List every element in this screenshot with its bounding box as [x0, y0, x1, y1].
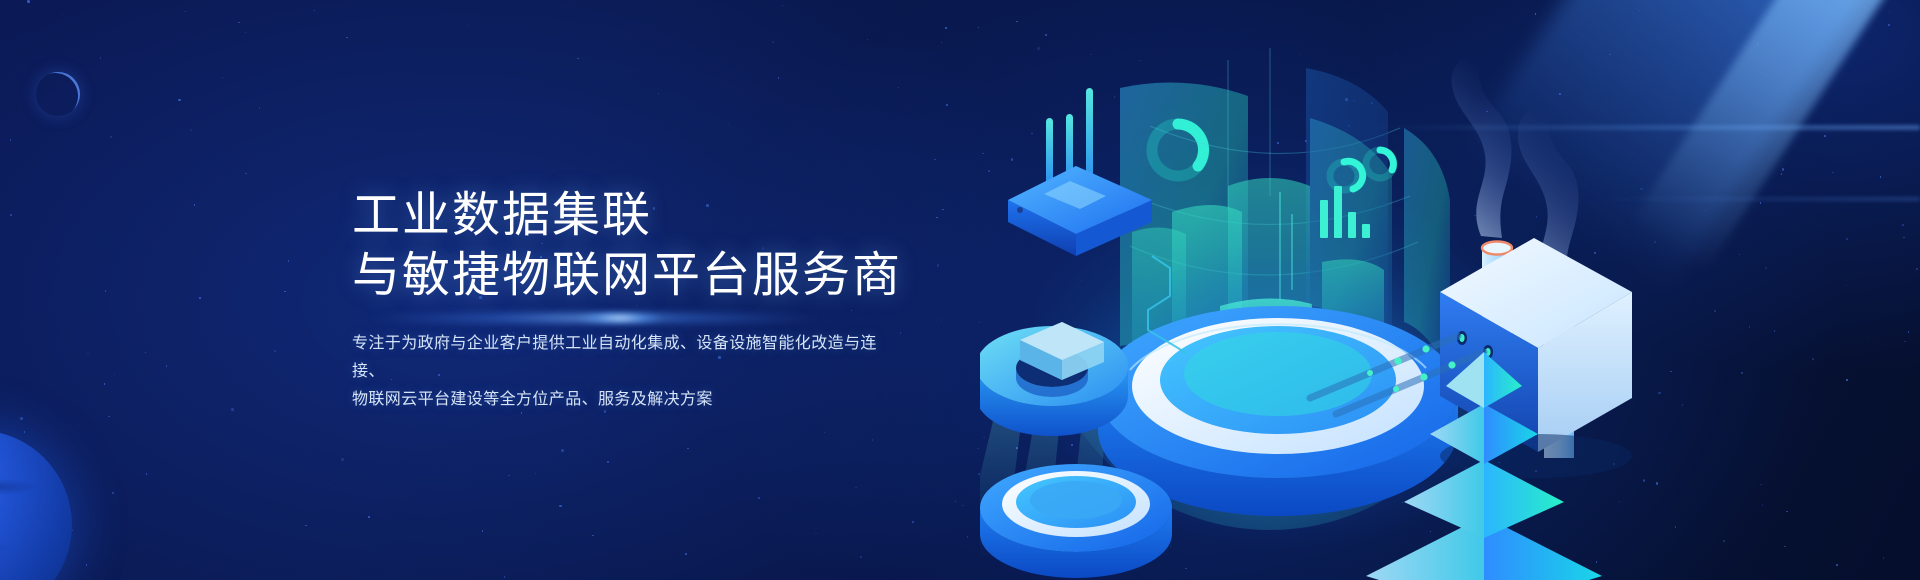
- star-dot: [872, 439, 874, 441]
- headline-line-1: 工业数据集联: [352, 186, 1072, 246]
- star-dot: [561, 449, 564, 452]
- star-dot: [824, 432, 826, 434]
- star-dot: [772, 41, 774, 43]
- planet-sphere: [0, 430, 72, 580]
- star-dot: [559, 505, 562, 508]
- star-dot: [946, 104, 948, 106]
- star-dot: [199, 297, 201, 299]
- star-dot: [87, 353, 89, 355]
- star-dot: [178, 99, 181, 102]
- star-dot: [104, 383, 106, 385]
- star-dot: [288, 260, 290, 262]
- headline-line-2: 与敏捷物联网平台服务商: [352, 246, 1072, 306]
- star-dot: [194, 204, 196, 206]
- star-dot: [346, 37, 348, 39]
- star-dot: [86, 564, 88, 566]
- star-dot: [535, 473, 537, 475]
- star-dot: [259, 107, 261, 109]
- star-dot: [114, 374, 116, 376]
- star-dot: [101, 205, 103, 207]
- star-dot: [941, 42, 943, 44]
- star-dot: [685, 553, 687, 555]
- star-dot: [329, 484, 331, 486]
- star-dot: [112, 492, 115, 495]
- hero-banner: 工业数据集联 与敏捷物联网平台服务商 专注于为政府与企业客户提供工业自动化集成、…: [0, 0, 1920, 580]
- star-dot: [758, 497, 760, 499]
- star-dot: [190, 129, 192, 131]
- star-dot: [577, 58, 579, 60]
- star-dot: [504, 576, 506, 578]
- star-dot: [607, 461, 610, 464]
- star-dot: [728, 124, 730, 126]
- subtitle-line-2: 物联网云平台建设等全方位产品、服务及解决方案: [352, 386, 882, 414]
- star-dot: [284, 291, 286, 293]
- star-dot: [898, 87, 900, 89]
- star-dot: [782, 5, 784, 7]
- star-dot: [108, 416, 110, 418]
- isometric-illustration: [980, 0, 1920, 580]
- star-dot: [687, 448, 689, 450]
- star-dot: [867, 39, 869, 41]
- star-dot: [10, 214, 12, 216]
- star-dot: [24, 431, 26, 433]
- star-dot: [468, 25, 470, 27]
- star-dot: [231, 408, 234, 411]
- star-dot: [245, 32, 247, 34]
- star-dot: [62, 14, 64, 16]
- star-dot: [955, 501, 957, 503]
- star-dot: [27, 0, 30, 3]
- star-dot: [10, 139, 12, 141]
- star-dot: [508, 475, 510, 477]
- star-dot: [20, 417, 23, 420]
- star-dot: [222, 77, 224, 79]
- star-dot: [368, 516, 370, 518]
- star-dot: [658, 93, 660, 95]
- star-dot: [166, 365, 168, 367]
- star-dot: [274, 350, 276, 352]
- star-dot: [962, 505, 964, 507]
- star-dot: [105, 290, 107, 292]
- star-dot: [145, 352, 147, 354]
- star-dot: [314, 10, 316, 12]
- star-dot: [184, 11, 186, 13]
- star-dot: [482, 530, 484, 532]
- small-platform-disc: [980, 464, 1172, 578]
- star-dot: [110, 136, 113, 139]
- star-dot: [592, 535, 594, 537]
- star-dot: [860, 556, 863, 559]
- star-dot: [146, 473, 148, 475]
- subtitle-line-1: 专注于为政府与企业客户提供工业自动化集成、设备设施智能化改造与连接、: [352, 330, 882, 386]
- star-dot: [238, 22, 240, 24]
- star-dot: [245, 173, 247, 175]
- crescent-moon-icon: [36, 72, 80, 116]
- star-dot: [305, 525, 307, 527]
- star-dot: [815, 533, 817, 535]
- star-dot: [912, 521, 914, 523]
- star-dot: [778, 77, 780, 79]
- hero-copy-block: 工业数据集联 与敏捷物联网平台服务商 专注于为政府与企业客户提供工业自动化集成、…: [352, 186, 1072, 414]
- star-dot: [977, 448, 979, 450]
- star-dot: [934, 159, 936, 161]
- star-dot: [967, 536, 969, 538]
- star-dot: [945, 27, 947, 29]
- disc-center-glow: [1184, 332, 1372, 416]
- star-dot: [855, 487, 857, 489]
- star-dot: [341, 458, 344, 461]
- star-dot: [100, 57, 102, 59]
